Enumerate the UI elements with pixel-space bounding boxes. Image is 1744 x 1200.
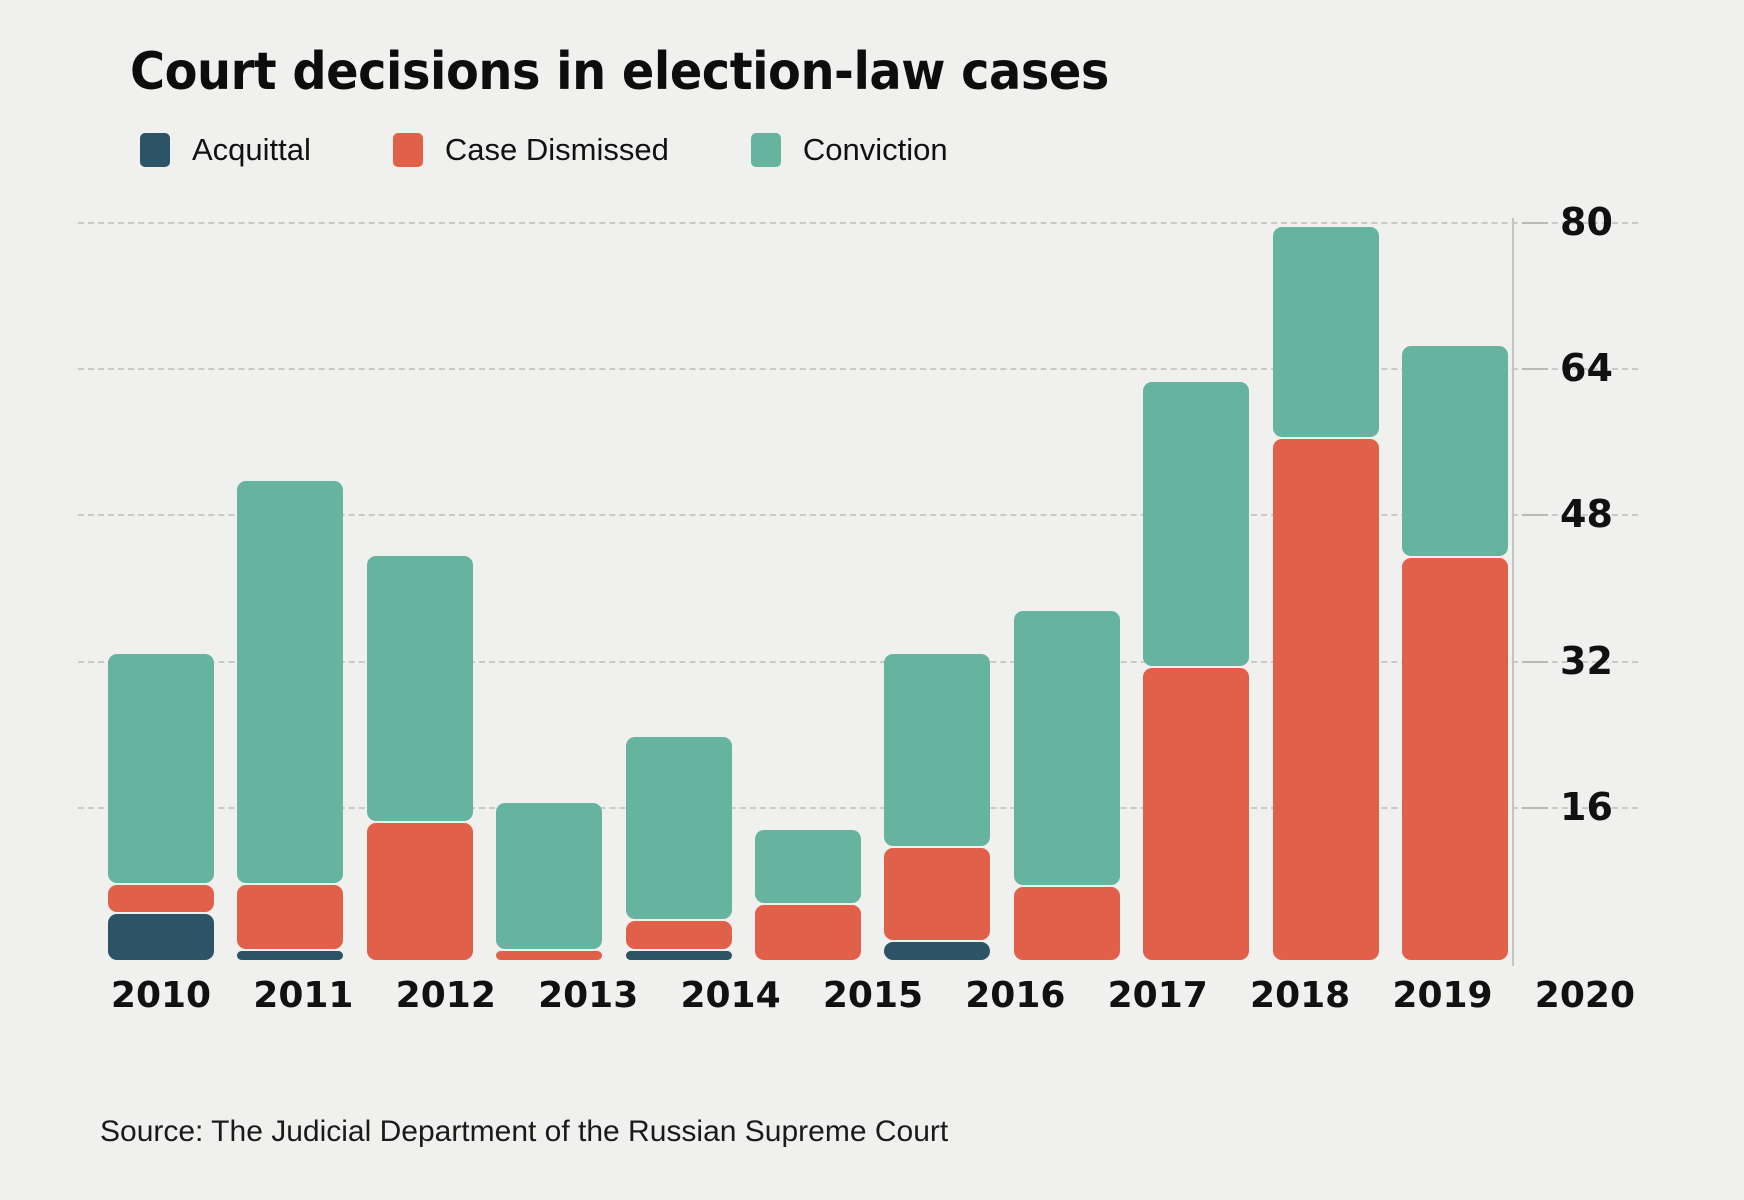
y-tick-mark-16 xyxy=(1522,807,1548,809)
bar-segment-2012-conviction[interactable] xyxy=(367,556,473,821)
bar-segment-2016-acquittal[interactable] xyxy=(884,942,990,960)
y-tick-mark-80 xyxy=(1522,222,1548,224)
bar-segment-2011-acquittal[interactable] xyxy=(237,951,343,960)
chart-page: Court decisions in election-law cases Ac… xyxy=(0,0,1744,1200)
x-axis-label-2018: 2018 xyxy=(1247,975,1353,1016)
bar-segment-2017-conviction[interactable] xyxy=(1014,611,1120,885)
y-tick-label-32: 32 xyxy=(1560,639,1613,683)
legend-label-acquittal: Acquittal xyxy=(192,132,311,168)
x-axis-label-2012: 2012 xyxy=(393,975,499,1016)
legend-item-case-dismissed[interactable]: Case Dismissed xyxy=(393,132,669,168)
bar-segment-2014-acquittal[interactable] xyxy=(626,951,732,960)
x-axis-labels: 2010201120122013201420152016201720182019… xyxy=(108,975,1638,1016)
bar-column-2014[interactable] xyxy=(626,200,732,960)
source-note: Source: The Judicial Department of the R… xyxy=(100,1115,948,1149)
x-axis-label-2019: 2019 xyxy=(1390,975,1496,1016)
legend-label-case-dismissed: Case Dismissed xyxy=(445,132,669,168)
chart-legend: Acquittal Case Dismissed Conviction xyxy=(140,132,1030,168)
legend-label-conviction: Conviction xyxy=(803,132,948,168)
bar-segment-2015-conviction[interactable] xyxy=(755,830,861,903)
y-tick-label-64: 64 xyxy=(1560,346,1613,390)
x-axis-label-2011: 2011 xyxy=(250,975,356,1016)
bar-segment-2014-conviction[interactable] xyxy=(626,737,732,920)
bar-segment-2013-case-dismissed[interactable] xyxy=(496,951,602,960)
x-axis-label-2016: 2016 xyxy=(962,975,1068,1016)
bar-segment-2015-case-dismissed[interactable] xyxy=(755,905,861,960)
y-tick-mark-32 xyxy=(1522,661,1548,663)
bar-column-2011[interactable] xyxy=(237,200,343,960)
legend-swatch-conviction xyxy=(751,133,781,167)
x-axis-label-2020: 2020 xyxy=(1532,975,1638,1016)
plot-area: 1632486480 xyxy=(78,200,1638,960)
x-axis-label-2015: 2015 xyxy=(820,975,926,1016)
bar-column-2020[interactable] xyxy=(1402,200,1508,960)
y-tick-label-16: 16 xyxy=(1560,785,1613,829)
legend-swatch-acquittal xyxy=(140,133,170,167)
bar-segment-2010-case-dismissed[interactable] xyxy=(108,885,214,912)
y-axis-line xyxy=(1512,218,1514,966)
bar-segment-2019-case-dismissed[interactable] xyxy=(1273,439,1379,960)
legend-swatch-case-dismissed xyxy=(393,133,423,167)
y-tick-mark-64 xyxy=(1522,368,1548,370)
bar-column-2015[interactable] xyxy=(755,200,861,960)
bar-segment-2018-case-dismissed[interactable] xyxy=(1143,668,1249,960)
bar-segment-2018-conviction[interactable] xyxy=(1143,382,1249,665)
bar-segment-2016-conviction[interactable] xyxy=(884,654,990,846)
bar-segment-2020-conviction[interactable] xyxy=(1402,346,1508,556)
y-tick-mark-48 xyxy=(1522,514,1548,516)
legend-item-conviction[interactable]: Conviction xyxy=(751,132,948,168)
bar-segment-2010-acquittal[interactable] xyxy=(108,914,214,960)
bar-segment-2016-case-dismissed[interactable] xyxy=(884,848,990,939)
y-tick-label-48: 48 xyxy=(1560,492,1613,536)
legend-item-acquittal[interactable]: Acquittal xyxy=(140,132,311,168)
bar-column-2016[interactable] xyxy=(884,200,990,960)
bar-group xyxy=(108,200,1508,960)
bar-segment-2012-case-dismissed[interactable] xyxy=(367,823,473,960)
bar-segment-2020-case-dismissed[interactable] xyxy=(1402,558,1508,960)
x-axis-label-2013: 2013 xyxy=(535,975,641,1016)
bar-column-2010[interactable] xyxy=(108,200,214,960)
bar-column-2019[interactable] xyxy=(1273,200,1379,960)
bar-segment-2013-conviction[interactable] xyxy=(496,803,602,949)
bar-segment-2019-conviction[interactable] xyxy=(1273,227,1379,437)
bar-segment-2011-conviction[interactable] xyxy=(237,481,343,883)
x-axis-label-2014: 2014 xyxy=(678,975,784,1016)
bar-segment-2011-case-dismissed[interactable] xyxy=(237,885,343,949)
bar-segment-2010-conviction[interactable] xyxy=(108,654,214,882)
y-tick-label-80: 80 xyxy=(1560,200,1613,244)
bar-column-2017[interactable] xyxy=(1014,200,1120,960)
bar-column-2013[interactable] xyxy=(496,200,602,960)
x-axis-label-2017: 2017 xyxy=(1105,975,1211,1016)
bar-segment-2014-case-dismissed[interactable] xyxy=(626,921,732,948)
bar-segment-2017-case-dismissed[interactable] xyxy=(1014,887,1120,960)
x-axis-label-2010: 2010 xyxy=(108,975,214,1016)
bar-column-2012[interactable] xyxy=(367,200,473,960)
bar-column-2018[interactable] xyxy=(1143,200,1249,960)
page-title: Court decisions in election-law cases xyxy=(130,42,1109,102)
